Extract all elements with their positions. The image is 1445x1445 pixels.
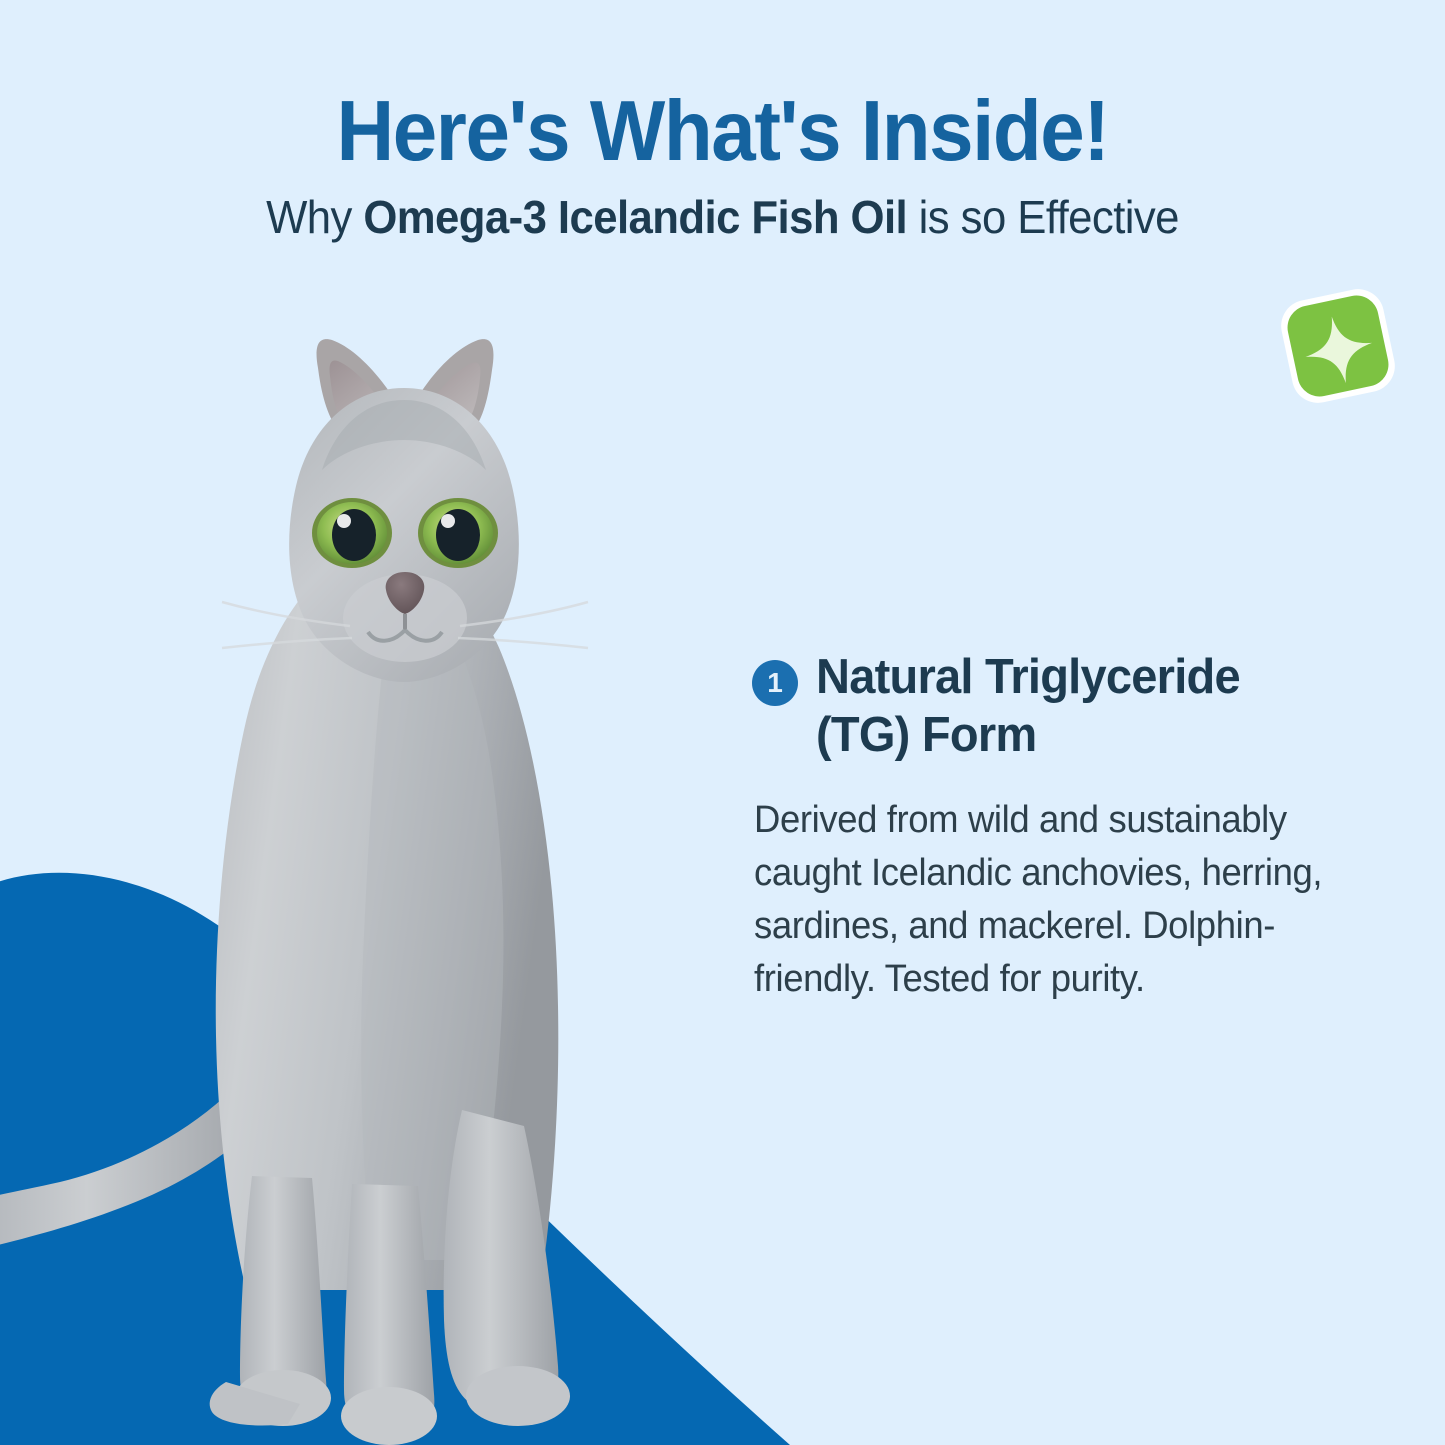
sparkle-star-icon	[1268, 276, 1408, 416]
header-block: Here's What's Inside! Why Omega-3 Icelan…	[0, 86, 1445, 244]
page-subtitle: Why Omega-3 Icelandic Fish Oil is so Eff…	[36, 190, 1409, 244]
cat-photo	[0, 330, 760, 1445]
point-title-line-2: (TG) Form	[816, 706, 1240, 764]
status-badge: 1	[752, 660, 798, 706]
subtitle-suffix: is so Effective	[907, 191, 1179, 243]
subtitle-prefix: Why	[266, 191, 363, 243]
list-item: 1 Natural Triglyceride (TG) Form	[752, 648, 1372, 764]
infographic-canvas: Here's What's Inside! Why Omega-3 Icelan…	[0, 0, 1445, 1445]
benefit-list: 1 Natural Triglyceride (TG) Form Derived…	[752, 648, 1372, 1006]
point-title: Natural Triglyceride (TG) Form	[816, 648, 1240, 764]
point-body: Derived from wild and sustainably caught…	[754, 794, 1347, 1006]
page-title: Here's What's Inside!	[43, 86, 1401, 178]
point-title-line-1: Natural Triglyceride	[816, 648, 1240, 706]
subtitle-emphasis: Omega-3 Icelandic Fish Oil	[363, 191, 907, 243]
